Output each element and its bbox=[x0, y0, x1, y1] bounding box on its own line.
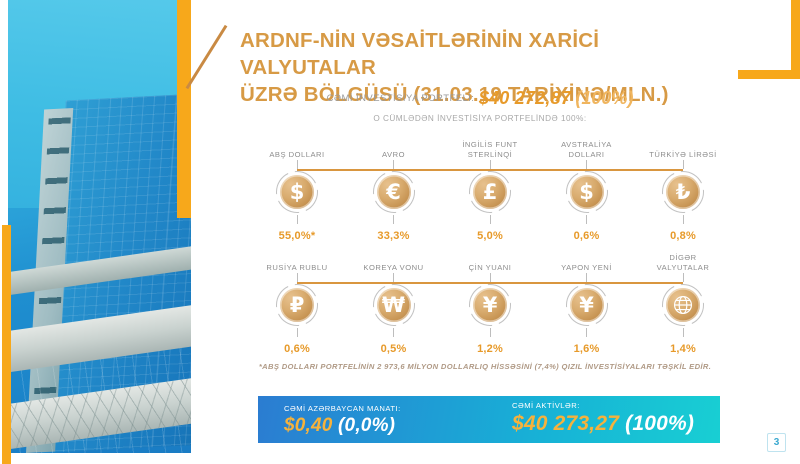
coin-wrapper bbox=[660, 282, 706, 328]
currency-name-label: ÇİN YUANI bbox=[469, 251, 512, 273]
percent-stem-line bbox=[586, 328, 587, 337]
pound-coin-icon: £ bbox=[473, 175, 507, 209]
yuan-coin-icon: ¥ bbox=[473, 288, 507, 322]
percent-stem-line bbox=[393, 215, 394, 224]
label-stem-line bbox=[297, 273, 298, 282]
currency-percent-value: 0,8% bbox=[670, 230, 696, 242]
currency-percent-value: 1,6% bbox=[574, 343, 600, 355]
currency-cell[interactable]: TÜRKİYƏ LİRƏSİ₺0,8% bbox=[641, 138, 725, 242]
slide-root: ARDNF-NİN VƏSAİTLƏRİNİN XARİCİ VALYUTALA… bbox=[0, 0, 800, 464]
currency-percent-value: 5,0% bbox=[477, 230, 503, 242]
currency-name-label: KOREYA VONU bbox=[363, 251, 423, 273]
currency-cell[interactable]: DİGƏRVALYUTALAR1,4% bbox=[641, 251, 725, 355]
currency-cell[interactable]: ÇİN YUANI¥1,2% bbox=[448, 251, 532, 355]
label-stem-line bbox=[297, 160, 298, 169]
percent-stem-line bbox=[490, 215, 491, 224]
total-manat-percent: (0,0%) bbox=[338, 415, 395, 436]
currency-name-label: RUSİYA RUBLU bbox=[266, 251, 327, 273]
title-line-1: ARDNF-NİN VƏSAİTLƏRİNİN XARİCİ VALYUTALA… bbox=[240, 27, 740, 81]
currency-cell[interactable]: RUSİYA RUBLU₽0,6% bbox=[255, 251, 339, 355]
footnote: *ABŞ DOLLARI PORTFELİNİN 2 973,6 MİLYON … bbox=[240, 362, 730, 371]
currency-name-label: TÜRKİYƏ LİRƏSİ bbox=[649, 138, 716, 160]
currency-cell[interactable]: İNGİLİS FUNTSTERLİNQİ£5,0% bbox=[448, 138, 532, 242]
currency-percent-value: 0,6% bbox=[574, 230, 600, 242]
yen-coin-icon: ¥ bbox=[570, 288, 604, 322]
percent-stem-line bbox=[586, 215, 587, 224]
coin-wrapper: $ bbox=[564, 169, 610, 215]
orange-corner-bracket bbox=[738, 0, 800, 79]
currency-cell[interactable]: YAPON YENİ¥1,6% bbox=[545, 251, 629, 355]
currency-name-label: AVSTRALİYADOLLARI bbox=[561, 138, 612, 160]
globe-coin-icon bbox=[666, 288, 700, 322]
label-stem-line bbox=[683, 273, 684, 282]
ruble-coin-icon: ₽ bbox=[280, 288, 314, 322]
coin-wrapper: € bbox=[371, 169, 417, 215]
title-slash-decoration bbox=[186, 25, 228, 89]
australian-dollar-coin-icon: $ bbox=[570, 175, 604, 209]
percent-stem-line bbox=[393, 328, 394, 337]
label-stem-line bbox=[586, 160, 587, 169]
building-photo bbox=[8, 0, 191, 453]
percent-stem-line bbox=[683, 215, 684, 224]
us-dollar-coin-icon: $ bbox=[280, 175, 314, 209]
label-stem-line bbox=[586, 273, 587, 282]
euro-coin-icon: € bbox=[377, 175, 411, 209]
currency-cell[interactable]: KOREYA VONU₩0,5% bbox=[352, 251, 436, 355]
percent-stem-line bbox=[297, 215, 298, 224]
currency-percent-value: 55,0%* bbox=[279, 230, 316, 242]
currency-cell[interactable]: ABŞ DOLLARI$55,0%* bbox=[255, 138, 339, 242]
currency-cell[interactable]: AVSTRALİYADOLLARI$0,6% bbox=[545, 138, 629, 242]
label-stem-line bbox=[393, 273, 394, 282]
currency-percent-value: 1,4% bbox=[670, 343, 696, 355]
total-assets-block: CƏMİ AKTİVLƏR: $40 273,27 (100%) bbox=[512, 401, 694, 436]
currency-row-2: RUSİYA RUBLU₽0,6%KOREYA VONU₩0,5%ÇİN YUA… bbox=[255, 251, 725, 355]
total-assets-label: CƏMİ AKTİVLƏR: bbox=[512, 401, 694, 410]
percent-stem-line bbox=[490, 328, 491, 337]
coin-wrapper: ₺ bbox=[660, 169, 706, 215]
coin-wrapper: ¥ bbox=[467, 282, 513, 328]
total-manat-block: CƏMİ AZƏRBAYCAN MANATI: $0,40 (0,0%) bbox=[284, 404, 401, 437]
portfolio-percent: (100%) bbox=[575, 88, 633, 108]
total-manat-value: $0,40 (0,0%) bbox=[284, 415, 401, 437]
currency-row-1: ABŞ DOLLARI$55,0%*AVRO€33,3%İNGİLİS FUNT… bbox=[255, 138, 725, 242]
label-stem-line bbox=[490, 273, 491, 282]
total-assets-number: $40 273,27 bbox=[512, 412, 619, 435]
currency-name-label: DİGƏRVALYUTALAR bbox=[657, 251, 710, 273]
coin-wrapper: ¥ bbox=[564, 282, 610, 328]
currency-percent-value: 0,6% bbox=[284, 343, 310, 355]
breakdown-note: O CÜMLƏDƏN İNVESTİSİYA PORTFELİNDƏ 100%: bbox=[240, 114, 720, 123]
label-stem-line bbox=[683, 160, 684, 169]
page-number-badge: 3 bbox=[767, 433, 786, 452]
orange-accent-bar-top bbox=[177, 0, 191, 218]
orange-accent-bar-bottom bbox=[2, 225, 11, 464]
currency-cell[interactable]: AVRO€33,3% bbox=[352, 138, 436, 242]
currency-percent-value: 0,5% bbox=[381, 343, 407, 355]
label-stem-line bbox=[393, 160, 394, 169]
currency-name-label: YAPON YENİ bbox=[561, 251, 612, 273]
currency-percent-value: 1,2% bbox=[477, 343, 503, 355]
percent-stem-line bbox=[297, 328, 298, 337]
globe-icon bbox=[672, 294, 694, 316]
total-assets-value: $40 273,27 (100%) bbox=[512, 412, 694, 436]
turkish-lira-coin-icon: ₺ bbox=[666, 175, 700, 209]
coin-wrapper: ₽ bbox=[274, 282, 320, 328]
won-coin-icon: ₩ bbox=[377, 288, 411, 322]
currency-name-label: AVRO bbox=[382, 138, 405, 160]
totals-bar: CƏMİ AZƏRBAYCAN MANATI: $0,40 (0,0%) CƏM… bbox=[258, 396, 720, 443]
total-manat-number: $0,40 bbox=[284, 415, 333, 436]
portfolio-amount: $40 272,87 bbox=[479, 88, 571, 108]
coin-wrapper: ₩ bbox=[371, 282, 417, 328]
portfolio-summary: CƏMİ İNVESTİSİYA PORTFELİ: $40 272,87 (1… bbox=[240, 88, 720, 109]
portfolio-label: CƏMİ İNVESTİSİYA PORTFELİ: bbox=[327, 93, 475, 104]
label-stem-line bbox=[490, 160, 491, 169]
total-manat-label: CƏMİ AZƏRBAYCAN MANATI: bbox=[284, 404, 401, 413]
currency-name-label: İNGİLİS FUNTSTERLİNQİ bbox=[462, 138, 517, 160]
percent-stem-line bbox=[683, 328, 684, 337]
total-assets-percent: (100%) bbox=[625, 412, 694, 435]
currency-percent-value: 33,3% bbox=[377, 230, 409, 242]
coin-wrapper: £ bbox=[467, 169, 513, 215]
coin-wrapper: $ bbox=[274, 169, 320, 215]
currency-name-label: ABŞ DOLLARI bbox=[269, 138, 324, 160]
